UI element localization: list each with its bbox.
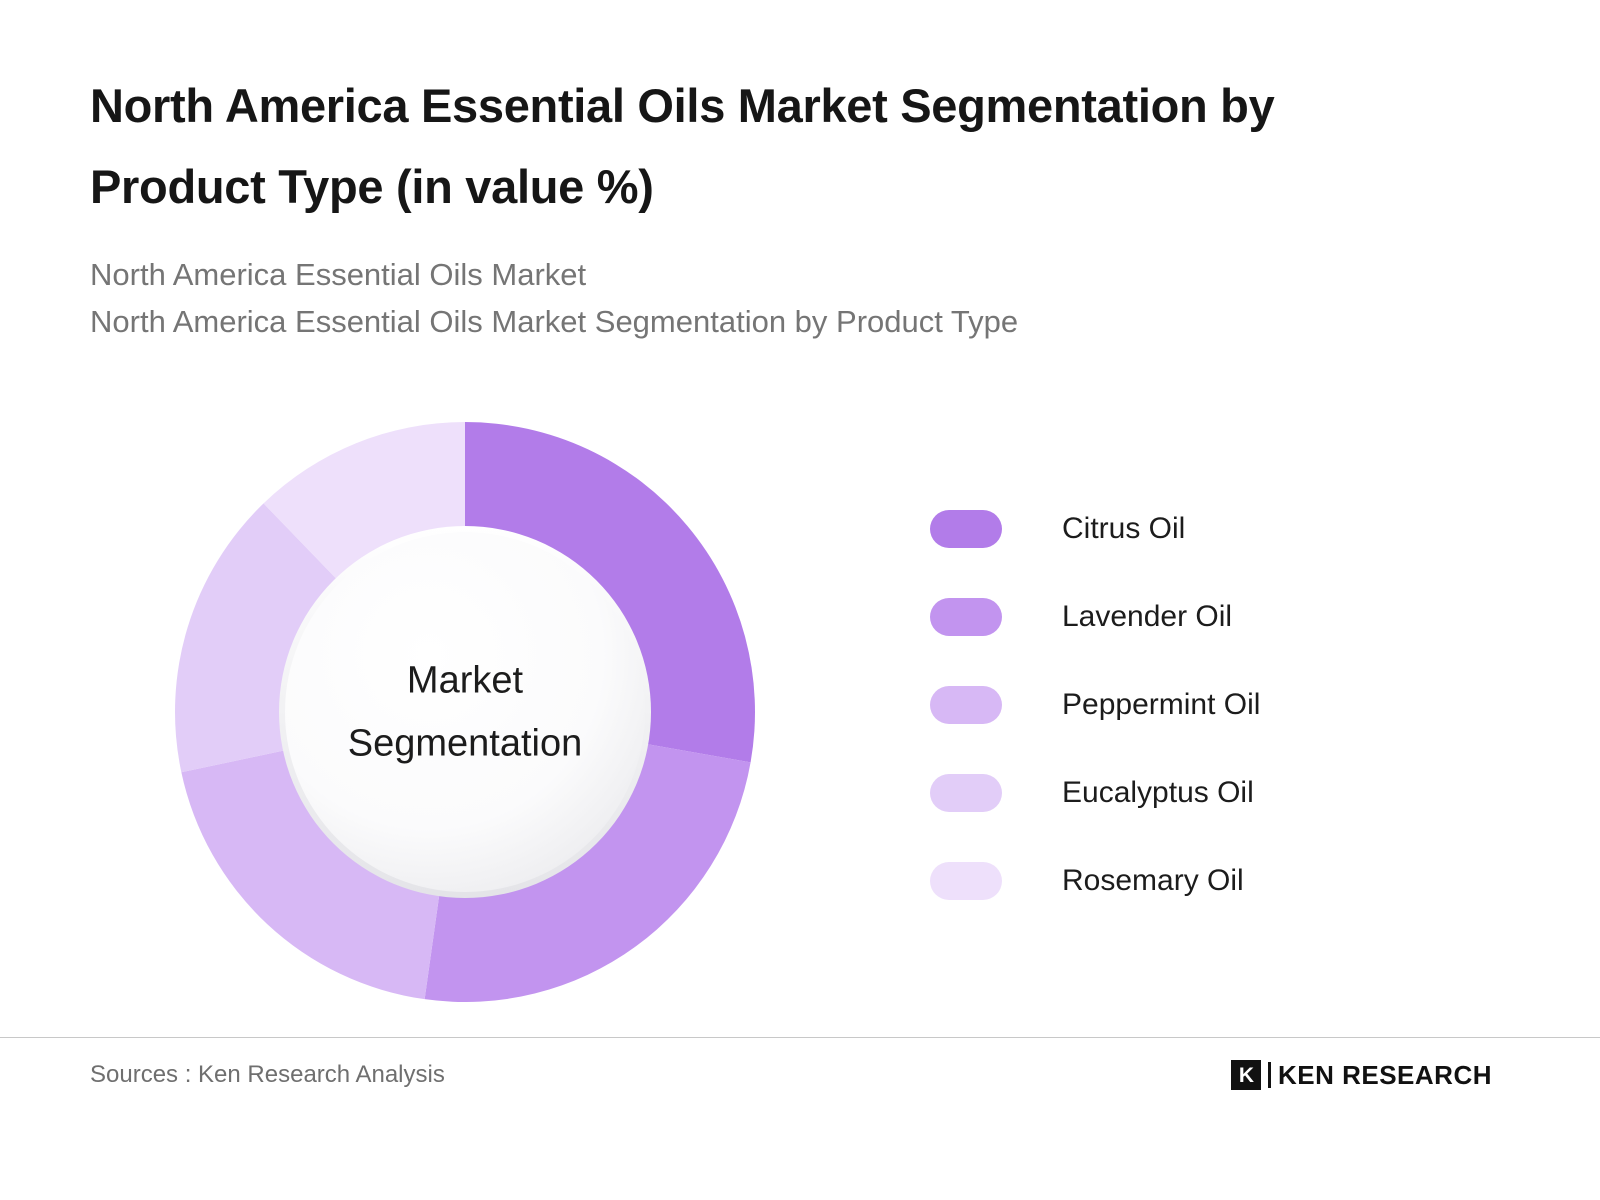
legend-item[interactable]: Citrus Oil	[930, 485, 1430, 573]
legend-label: Citrus Oil	[1062, 512, 1185, 546]
legend-swatch-icon	[930, 862, 1002, 900]
slide-canvas: North America Essential Oils Market Segm…	[0, 0, 1600, 1200]
brand-logo: K KEN RESEARCH	[1231, 1058, 1492, 1092]
legend-item[interactable]: Lavender Oil	[930, 573, 1430, 661]
legend-item[interactable]: Eucalyptus Oil	[930, 749, 1430, 837]
legend-swatch-icon	[930, 686, 1002, 724]
ken-research-mark-icon: K	[1231, 1060, 1261, 1090]
donut-svg	[175, 422, 755, 1002]
chart-legend: Citrus OilLavender OilPeppermint OilEuca…	[930, 485, 1430, 925]
page-title: North America Essential Oils Market Segm…	[90, 66, 1410, 228]
brand-initial: K	[1239, 1065, 1253, 1086]
legend-swatch-icon	[930, 774, 1002, 812]
legend-label: Peppermint Oil	[1062, 688, 1260, 722]
legend-label: Lavender Oil	[1062, 600, 1232, 634]
legend-label: Eucalyptus Oil	[1062, 776, 1254, 810]
page-subtitle: North America Essential Oils Market Nort…	[90, 252, 1430, 345]
donut-chart: Market Segmentation	[175, 422, 755, 1002]
chart-area: Market Segmentation Citrus OilLavender O…	[0, 390, 1600, 1030]
donut-hub	[285, 532, 645, 892]
legend-item[interactable]: Rosemary Oil	[930, 837, 1430, 925]
brand-name: KEN RESEARCH	[1278, 1060, 1492, 1091]
legend-swatch-icon	[930, 598, 1002, 636]
brand-divider	[1268, 1062, 1271, 1088]
legend-item[interactable]: Peppermint Oil	[930, 661, 1430, 749]
footer-divider	[0, 1037, 1600, 1038]
legend-label: Rosemary Oil	[1062, 864, 1244, 898]
legend-swatch-icon	[930, 510, 1002, 548]
sources-note: Sources : Ken Research Analysis	[90, 1061, 445, 1089]
